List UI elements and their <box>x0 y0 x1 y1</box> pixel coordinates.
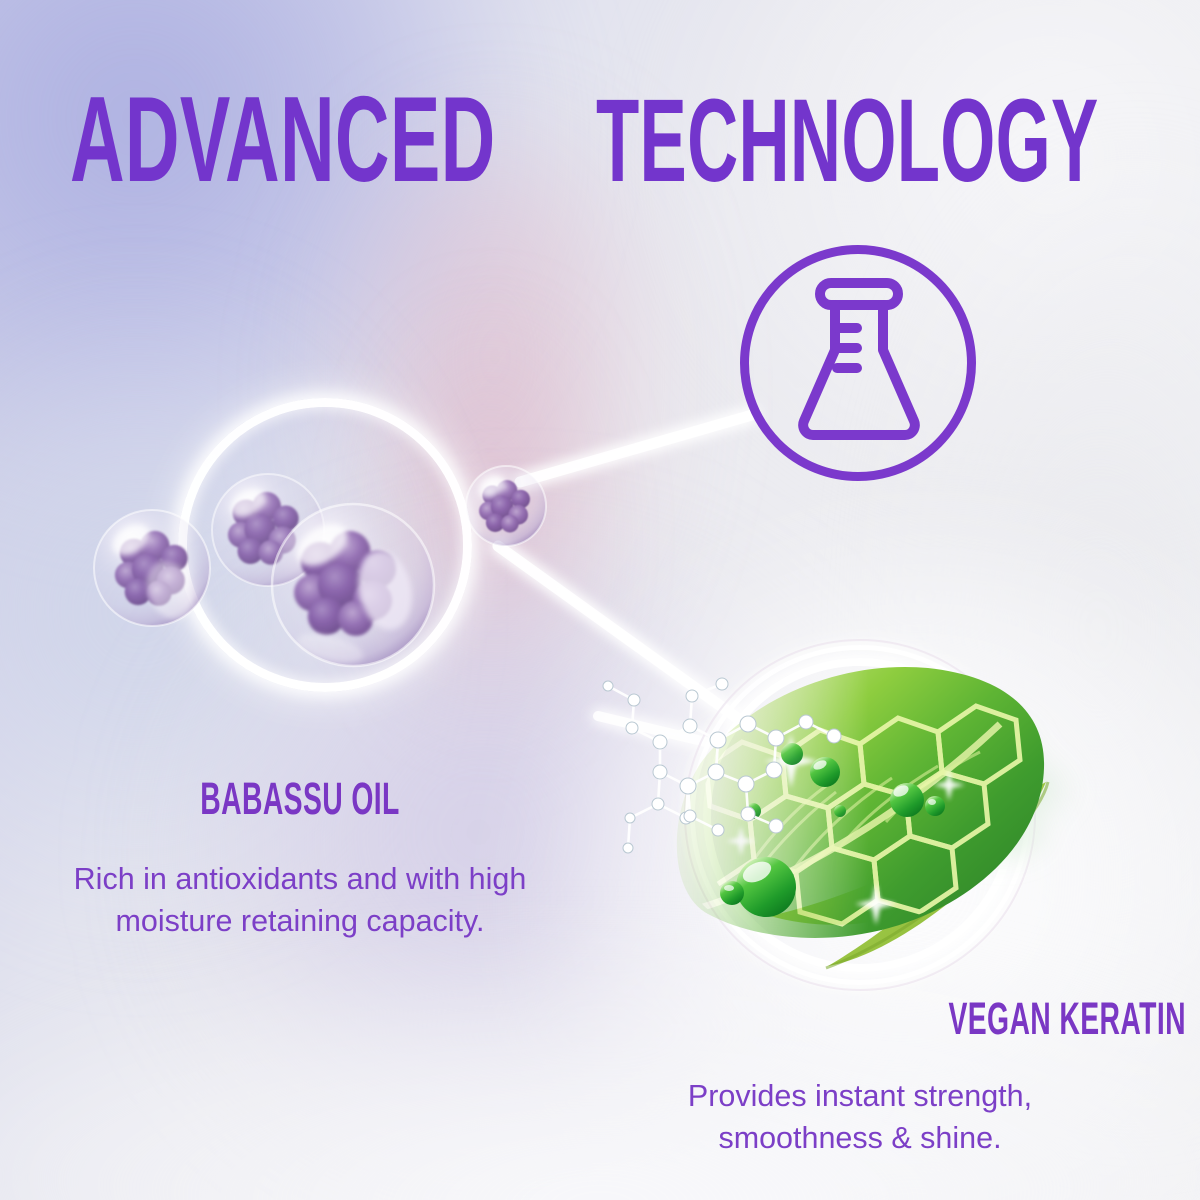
title-word-advanced: ADVANCED <box>70 78 496 200</box>
title-word-technology: TECHNOLOGY <box>596 82 1099 200</box>
vegan-keratin-heading: VEGAN KERATIN <box>878 996 1200 1041</box>
advanced-technology-infographic: ADVANCEDTECHNOLOGY BABASSU OIL Rich in a… <box>0 0 1200 1200</box>
vegan-keratin-description: Provides instant strength, smoothness & … <box>620 1075 1100 1159</box>
babassu-oil-heading: BABASSU OIL <box>111 776 489 821</box>
page-title: ADVANCEDTECHNOLOGY <box>70 78 1200 200</box>
babassu-oil-description: Rich in antioxidants and with high moist… <box>40 858 560 942</box>
